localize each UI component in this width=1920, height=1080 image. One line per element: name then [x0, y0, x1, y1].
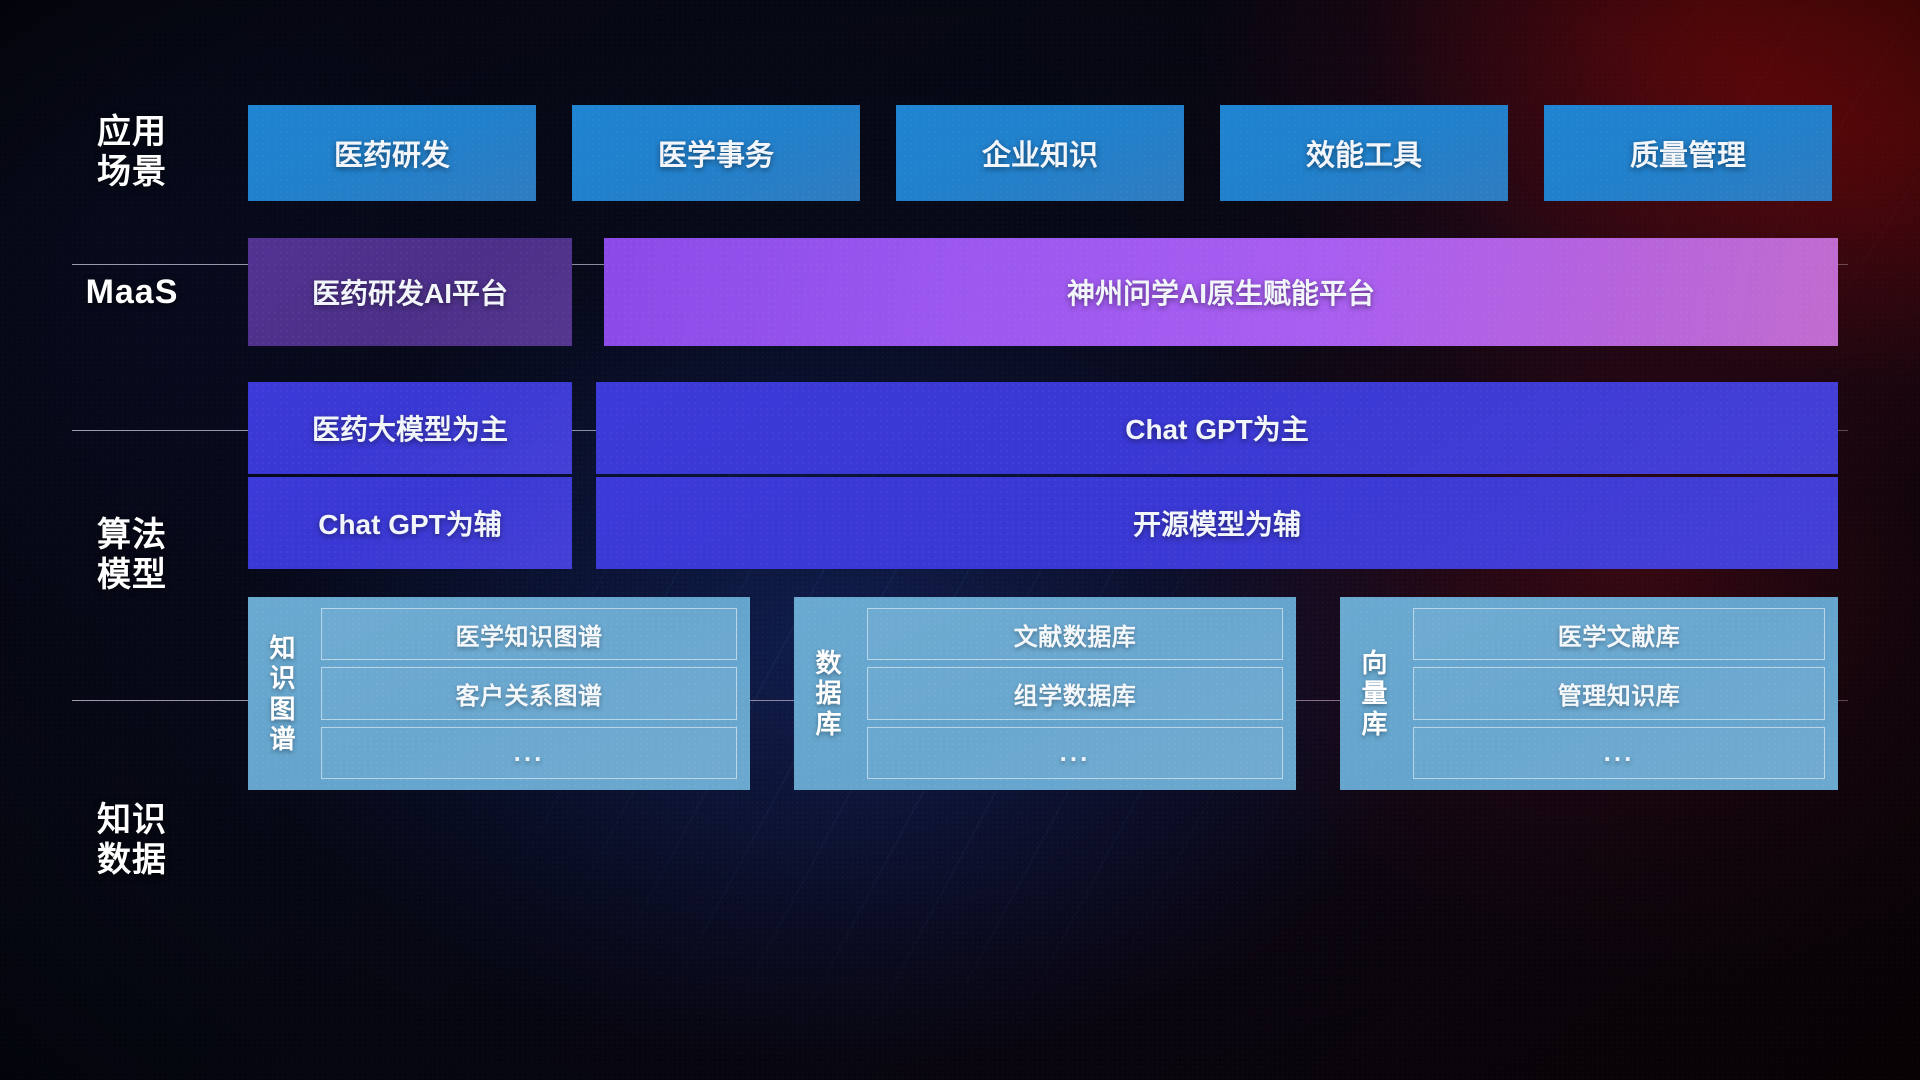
algo-box-pharma-llm-primary-label: 医药大模型为主 [312, 408, 508, 448]
row-label-algorithm-line1: 算法 [72, 515, 192, 555]
algo-box-chatgpt-primary[interactable]: Chat GPT为主 [596, 382, 1838, 474]
knowledge-item-more-vector[interactable]: ... [1413, 727, 1825, 779]
maas-box-shenzhou-wenxue-platform[interactable]: 神州问学AI原生赋能平台 [604, 238, 1838, 346]
knowledge-group-vector-store-items: 医学文献库 管理知识库 ... [1413, 608, 1825, 779]
knowledge-group-knowledge-graph-items: 医学知识图谱 客户关系图谱 ... [321, 608, 737, 779]
app-box-quality-management-label: 质量管理 [1630, 132, 1746, 174]
algo-box-chatgpt-secondary[interactable]: Chat GPT为辅 [248, 477, 572, 569]
row-label-application: 应用 场景 [72, 112, 192, 192]
algo-box-pharma-llm-primary[interactable]: 医药大模型为主 [248, 382, 572, 474]
row-label-maas: MaaS [72, 272, 192, 312]
architecture-diagram-slide: 应用 场景 医药研发 医学事务 企业知识 效能工具 质量管理 MaaS 医药研发… [0, 0, 1920, 1080]
row-label-application-line1: 应用 [72, 112, 192, 152]
diagram-content: 应用 场景 医药研发 医学事务 企业知识 效能工具 质量管理 MaaS 医药研发… [0, 0, 1920, 1080]
knowledge-item-customer-kg[interactable]: 客户关系图谱 [321, 667, 737, 719]
algo-box-chatgpt-primary-label: Chat GPT为主 [1125, 408, 1309, 448]
knowledge-item-medical-kg[interactable]: 医学知识图谱 [321, 608, 737, 660]
app-box-enterprise-knowledge[interactable]: 企业知识 [896, 105, 1184, 201]
row-label-application-line2: 场景 [72, 152, 192, 192]
app-box-quality-management[interactable]: 质量管理 [1544, 105, 1832, 201]
row-label-algorithm: 算法 模型 [72, 515, 192, 595]
algo-box-opensource-secondary-label: 开源模型为辅 [1133, 503, 1301, 543]
algo-box-opensource-secondary[interactable]: 开源模型为辅 [596, 477, 1838, 569]
row-label-knowledge-line2: 数据 [72, 840, 192, 880]
maas-box-drug-rd-ai-platform-label: 医药研发AI平台 [312, 272, 508, 312]
knowledge-group-vector-store[interactable]: 向量库 医学文献库 管理知识库 ... [1340, 597, 1838, 790]
app-box-medical-affairs-label: 医学事务 [658, 132, 774, 174]
row-label-knowledge-line1: 知识 [72, 800, 192, 840]
knowledge-item-management-knowledge-store[interactable]: 管理知识库 [1413, 667, 1825, 719]
knowledge-group-database-title: 数据库 [805, 648, 853, 738]
row-label-maas-text: MaaS [72, 272, 192, 312]
app-box-efficiency-tools[interactable]: 效能工具 [1220, 105, 1508, 201]
row-label-algorithm-line2: 模型 [72, 555, 192, 595]
knowledge-group-knowledge-graph[interactable]: 知识图谱 医学知识图谱 客户关系图谱 ... [248, 597, 750, 790]
knowledge-group-database-items: 文献数据库 组学数据库 ... [867, 608, 1283, 779]
maas-box-shenzhou-wenxue-platform-label: 神州问学AI原生赋能平台 [1067, 272, 1375, 312]
knowledge-item-more-kg[interactable]: ... [321, 727, 737, 779]
row-label-knowledge: 知识 数据 [72, 800, 192, 880]
knowledge-item-literature-db[interactable]: 文献数据库 [867, 608, 1283, 660]
app-box-medical-affairs[interactable]: 医学事务 [572, 105, 860, 201]
app-box-enterprise-knowledge-label: 企业知识 [982, 132, 1098, 174]
app-box-drug-rd-label: 医药研发 [334, 132, 450, 174]
knowledge-group-vector-store-title: 向量库 [1351, 648, 1399, 738]
app-box-drug-rd[interactable]: 医药研发 [248, 105, 536, 201]
knowledge-group-database[interactable]: 数据库 文献数据库 组学数据库 ... [794, 597, 1296, 790]
knowledge-item-medical-literature-store[interactable]: 医学文献库 [1413, 608, 1825, 660]
maas-box-drug-rd-ai-platform[interactable]: 医药研发AI平台 [248, 238, 572, 346]
knowledge-item-more-db[interactable]: ... [867, 727, 1283, 779]
knowledge-group-knowledge-graph-title: 知识图谱 [259, 633, 307, 754]
knowledge-item-omics-db[interactable]: 组学数据库 [867, 667, 1283, 719]
algo-box-chatgpt-secondary-label: Chat GPT为辅 [318, 503, 502, 543]
app-box-efficiency-tools-label: 效能工具 [1306, 132, 1422, 174]
